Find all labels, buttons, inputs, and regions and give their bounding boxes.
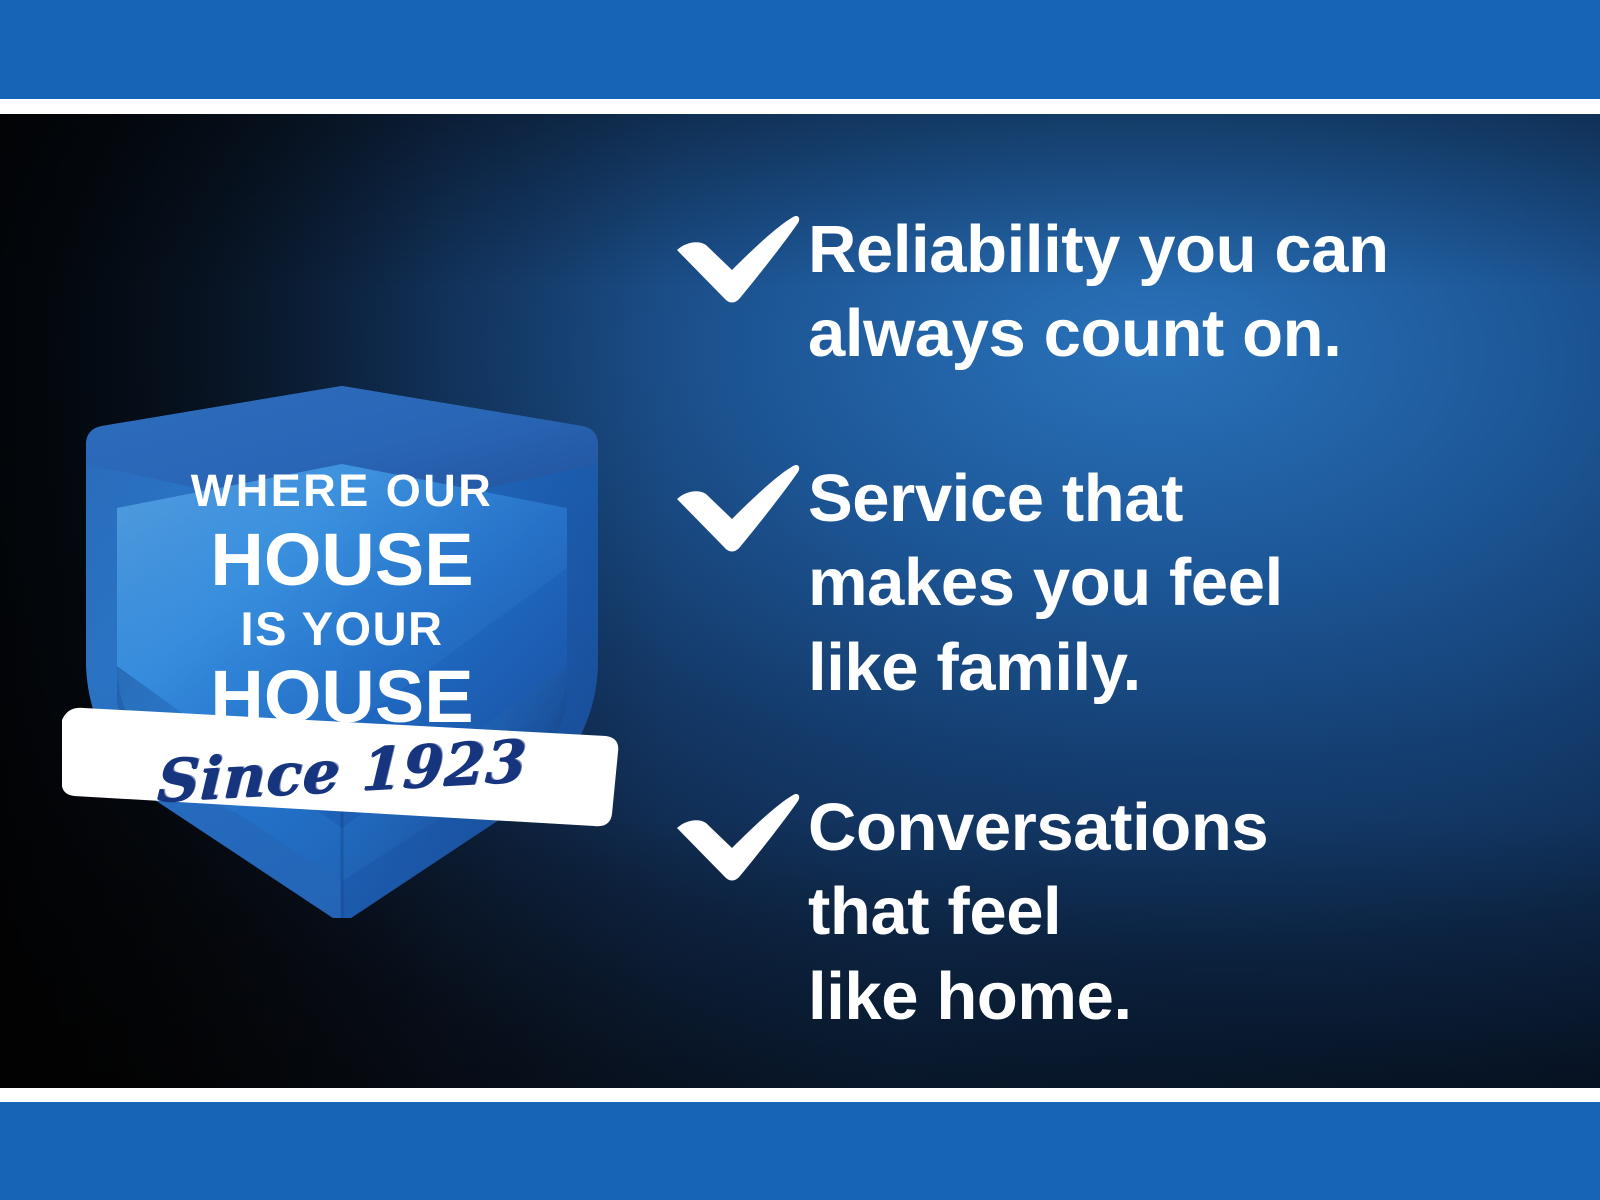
since-ribbon: Since 1923	[62, 696, 622, 846]
benefits-list: Reliability you can always count on. Ser…	[672, 200, 1552, 1039]
benefit-1-line-3: like family.	[808, 626, 1552, 710]
benefit-2-line-1: Conversations	[808, 786, 1552, 870]
benefit-text-0: Reliability you can always count on.	[808, 200, 1552, 377]
check-icon-wrap-2	[672, 778, 808, 888]
bottom-brand-bar	[0, 1102, 1600, 1200]
benefit-2-line-3: like home.	[808, 955, 1552, 1039]
check-icon	[672, 463, 804, 559]
benefit-0-line-1: Reliability you can	[808, 208, 1552, 292]
benefit-text-1: Service that makes you feel like family.	[808, 449, 1552, 710]
benefit-item-service: Service that makes you feel like family.	[672, 449, 1552, 710]
benefit-0-line-2: always count on.	[808, 292, 1552, 376]
check-icon-wrap-0	[672, 200, 808, 310]
benefit-item-conversations: Conversations that feel like home.	[672, 778, 1552, 1039]
check-icon-wrap-1	[672, 449, 808, 559]
ribbon-since-text: Since 1923	[156, 727, 529, 816]
content-canvas: WHERE OUR HOUSE IS YOUR HOUSE Since 1923	[0, 114, 1600, 1088]
promo-card: WHERE OUR HOUSE IS YOUR HOUSE Since 1923	[0, 0, 1600, 1200]
brand-shield-badge: WHERE OUR HOUSE IS YOUR HOUSE Since 1923	[62, 268, 622, 918]
top-white-divider	[0, 99, 1600, 114]
benefit-1-line-2: makes you feel	[808, 541, 1552, 625]
benefit-2-line-2: that feel	[808, 870, 1552, 954]
benefit-text-2: Conversations that feel like home.	[808, 778, 1552, 1039]
top-brand-bar	[0, 0, 1600, 99]
check-icon	[672, 214, 804, 310]
benefit-1-line-1: Service that	[808, 457, 1552, 541]
bottom-white-divider	[0, 1087, 1600, 1102]
benefit-item-reliability: Reliability you can always count on.	[672, 200, 1552, 377]
check-icon	[672, 792, 804, 888]
ribbon-text-wrap: Since 1923	[58, 680, 626, 861]
